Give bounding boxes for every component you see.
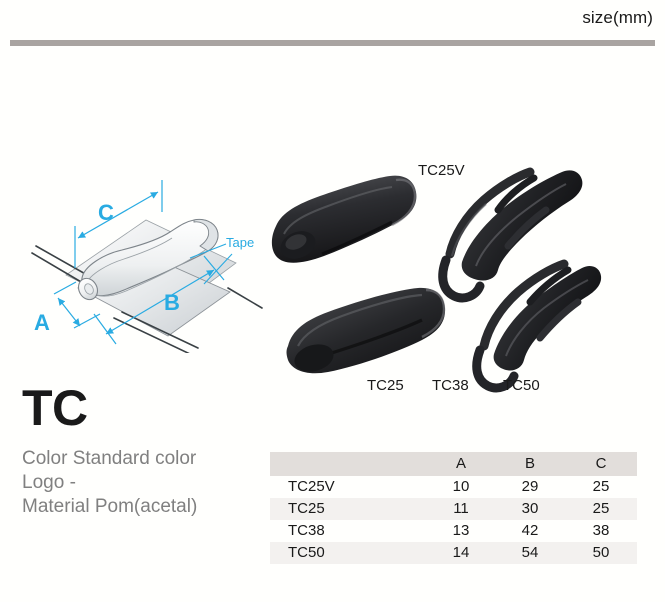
cell-a: 13 [427, 520, 495, 542]
spec-logo: Logo - [22, 471, 262, 495]
cell-a: 11 [427, 498, 495, 520]
cell-b: 42 [495, 520, 565, 542]
photo-label-tc25: TC25 [367, 377, 404, 394]
cell-c: 38 [565, 520, 637, 542]
cell-c: 25 [565, 498, 637, 520]
photo-label-tc38: TC38 [432, 377, 469, 394]
column-header-c: C [565, 452, 637, 476]
cell-a: 10 [427, 476, 495, 498]
table-row: TC50 14 54 50 [270, 542, 637, 564]
clip-photo-tc50 [477, 264, 601, 388]
dimension-table: A B C TC25V 10 29 25 TC25 11 30 25 TC38 … [270, 452, 637, 564]
spec-material-value: Pom(acetal) [95, 496, 197, 517]
spec-logo-value: - [70, 472, 76, 493]
dimension-label-a: A [34, 310, 50, 335]
column-header-a: A [427, 452, 495, 476]
product-info-block: TC Color Standard color Logo - Material … [22, 383, 262, 519]
cell-c: 50 [565, 542, 637, 564]
tape-label: Tape [226, 235, 254, 250]
cell-model: TC50 [270, 542, 427, 564]
photo-label-tc25v: TC25V [418, 162, 465, 179]
spec-material-key: Material [22, 496, 90, 517]
clip-photo-tc25v [272, 176, 417, 264]
spec-material: Material Pom(acetal) [22, 495, 262, 519]
cell-c: 25 [565, 476, 637, 498]
clip-photo-tc38 [443, 170, 583, 298]
cell-b: 29 [495, 476, 565, 498]
table-header-row: A B C [270, 452, 637, 476]
cell-a: 14 [427, 542, 495, 564]
table-row: TC38 13 42 38 [270, 520, 637, 542]
size-unit-label: size(mm) [582, 8, 653, 28]
spec-color-value: Standard color [73, 448, 197, 469]
technical-drawing: C A B Tape [18, 158, 278, 353]
column-header-b: B [495, 452, 565, 476]
spec-color-key: Color [22, 448, 67, 469]
spec-color: Color Standard color [22, 447, 262, 471]
product-photo-group [262, 150, 662, 395]
photo-label-tc50: TC50 [503, 377, 540, 394]
dimension-label-b: B [164, 290, 180, 315]
spec-logo-key: Logo [22, 472, 64, 493]
header-divider-rule [10, 40, 655, 46]
cell-b: 54 [495, 542, 565, 564]
table-row: TC25V 10 29 25 [270, 476, 637, 498]
cell-model: TC25V [270, 476, 427, 498]
dimension-table-body: TC25V 10 29 25 TC25 11 30 25 TC38 13 42 … [270, 476, 637, 564]
table-row: TC25 11 30 25 [270, 498, 637, 520]
column-header-model [270, 452, 427, 476]
cell-b: 30 [495, 498, 565, 520]
dimension-table-wrapper: A B C TC25V 10 29 25 TC25 11 30 25 TC38 … [270, 452, 637, 564]
cell-model: TC25 [270, 498, 427, 520]
dimension-label-c: C [98, 200, 114, 225]
dimension-table-head: A B C [270, 452, 637, 476]
page-header: size(mm) [0, 0, 665, 48]
clip-photo-tc25 [287, 288, 446, 376]
product-brand-title: TC [22, 383, 262, 433]
cell-model: TC38 [270, 520, 427, 542]
